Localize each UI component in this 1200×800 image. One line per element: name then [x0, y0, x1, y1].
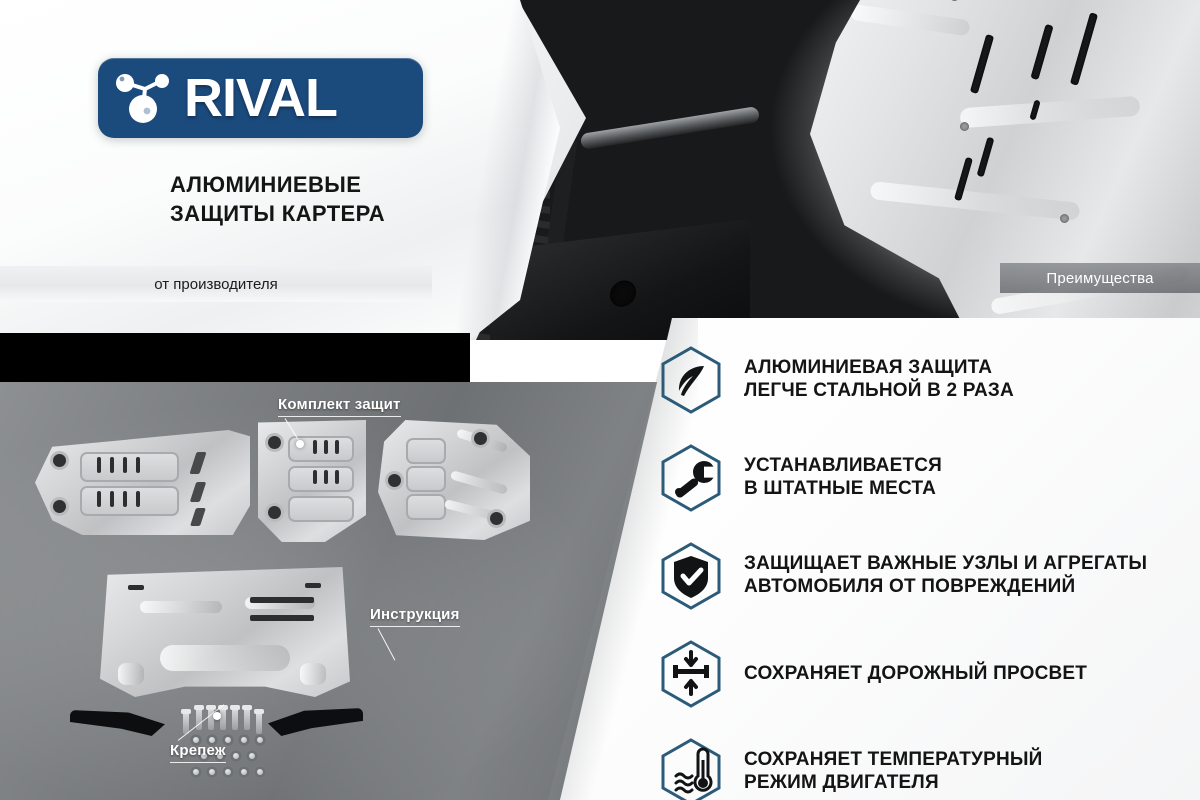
advantage-line-1: СОХРАНЯЕТ ТЕМПЕРАТУРНЫЙ	[744, 749, 1043, 772]
callout-hardware-dot	[213, 712, 221, 720]
wrench-icon	[660, 444, 722, 512]
advantages-list: АЛЮМИНИЕВАЯ ЗАЩИТА ЛЕГЧЕ СТАЛЬНОЙ В 2 РА…	[660, 346, 1190, 800]
advantage-item: СОХРАНЯЕТ ДОРОЖНЫЙ ПРОСВЕТ	[660, 640, 1190, 708]
rival-logo: RIVAL	[98, 58, 423, 138]
advantage-item: СОХРАНЯЕТ ТЕМПЕРАТУРНЫЙ РЕЖИМ ДВИГАТЕЛЯ	[660, 738, 1190, 800]
callout-instruction: Инструкция	[370, 606, 460, 627]
advantages-badge-label: Преимущества	[1046, 270, 1153, 287]
bracket-right	[268, 708, 363, 736]
headline-line-2: ЗАЩИТЫ КАРТЕРА	[170, 199, 520, 228]
skid-plate-middle	[258, 420, 366, 542]
advantage-item: АЛЮМИНИЕВАЯ ЗАЩИТА ЛЕГЧЕ СТАЛЬНОЙ В 2 РА…	[660, 346, 1190, 414]
shield-check-icon	[660, 542, 722, 610]
skid-plate-large	[100, 567, 350, 697]
advantages-badge: Преимущества	[1000, 263, 1200, 293]
divider-band	[0, 333, 470, 385]
bracket-left	[70, 710, 165, 736]
advantage-text: АЛЮМИНИЕВАЯ ЗАЩИТА ЛЕГЧЕ СТАЛЬНОЙ В 2 РА…	[744, 357, 1014, 403]
poster-canvas: RIVAL АЛЮМИНИЕВЫЕ ЗАЩИТЫ КАРТЕРА от прои…	[0, 0, 1200, 800]
advantage-line-1: СОХРАНЯЕТ ДОРОЖНЫЙ ПРОСВЕТ	[744, 663, 1087, 686]
manufacturer-ribbon: от производителя	[0, 266, 432, 302]
advantage-line-1: ЗАЩИЩАЕТ ВАЖНЫЕ УЗЛЫ И АГРЕГАТЫ	[744, 553, 1147, 576]
page-title: АЛЮМИНИЕВЫЕ ЗАЩИТЫ КАРТЕРА	[170, 170, 520, 228]
ground-clearance-icon	[660, 640, 722, 708]
skid-plate-left	[35, 430, 250, 535]
advantage-text: СОХРАНЯЕТ ДОРОЖНЫЙ ПРОСВЕТ	[744, 663, 1087, 686]
callout-kit-dot	[296, 440, 304, 448]
advantage-text: УСТАНАВЛИВАЕТСЯ В ШТАТНЫЕ МЕСТА	[744, 455, 942, 501]
advantage-text: ЗАЩИЩАЕТ ВАЖНЫЕ УЗЛЫ И АГРЕГАТЫ АВТОМОБИ…	[744, 553, 1147, 599]
advantage-line-2: РЕЖИМ ДВИГАТЕЛЯ	[744, 772, 1043, 795]
callout-hardware: Крепеж	[170, 742, 226, 763]
advantage-line-2: ЛЕГЧЕ СТАЛЬНОЙ В 2 РАЗА	[744, 380, 1014, 403]
molecule-icon	[112, 67, 174, 129]
leaf-icon	[660, 346, 722, 414]
advantage-line-1: УСТАНАВЛИВАЕТСЯ	[744, 455, 942, 478]
skid-plate-right	[378, 420, 530, 540]
ribbon-label: от производителя	[154, 276, 277, 293]
logo-wordmark: RIVAL	[184, 71, 337, 125]
thermometer-icon	[660, 738, 722, 800]
hero-driveshaft	[580, 106, 760, 150]
advantage-line-1: АЛЮМИНИЕВАЯ ЗАЩИТА	[744, 357, 1014, 380]
advantage-line-2: АВТОМОБИЛЯ ОТ ПОВРЕЖДЕНИЙ	[744, 576, 1147, 599]
advantage-item: УСТАНАВЛИВАЕТСЯ В ШТАТНЫЕ МЕСТА	[660, 444, 1190, 512]
advantage-line-2: В ШТАТНЫЕ МЕСТА	[744, 478, 942, 501]
callout-kit-label: Комплект защит	[278, 396, 401, 413]
callout-kit: Комплект защит	[278, 396, 401, 417]
advantage-item: ЗАЩИЩАЕТ ВАЖНЫЕ УЗЛЫ И АГРЕГАТЫ АВТОМОБИ…	[660, 542, 1190, 610]
headline-line-1: АЛЮМИНИЕВЫЕ	[170, 170, 520, 199]
callout-instruction-label: Инструкция	[370, 606, 460, 623]
callout-hardware-label: Крепеж	[170, 742, 226, 759]
advantage-text: СОХРАНЯЕТ ТЕМПЕРАТУРНЫЙ РЕЖИМ ДВИГАТЕЛЯ	[744, 749, 1043, 795]
